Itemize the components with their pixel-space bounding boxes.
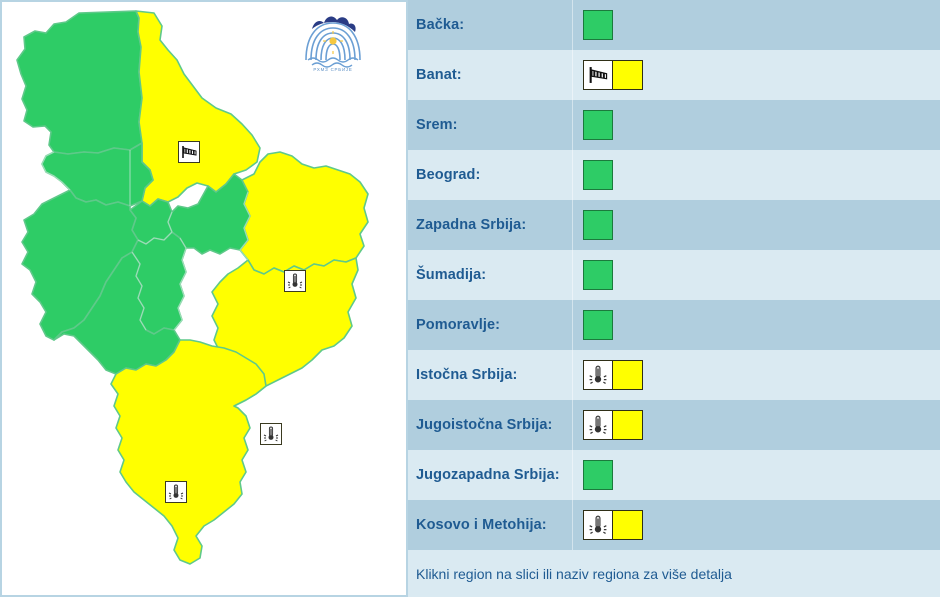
warning-level-green-box: [583, 210, 613, 240]
warning-symbols: [583, 260, 613, 290]
wind-sock-icon-box: [583, 60, 613, 90]
region-name-label[interactable]: Bačka:: [408, 17, 572, 33]
warning-level-green-box: [583, 110, 613, 140]
column-divider: [572, 200, 573, 250]
region-warning-list: Bačka:Banat:Srem:Beograd:Zapadna Srbija:…: [408, 0, 940, 597]
thermometer-heat-icon-box: [583, 510, 613, 540]
region-name-label[interactable]: Šumadija:: [408, 267, 572, 283]
map-badge-banat-wind[interactable]: [178, 141, 200, 163]
map-region-kosovo-metohija[interactable]: [111, 340, 266, 564]
region-row[interactable]: Jugozapadna Srbija:: [408, 450, 940, 500]
warning-symbols: [583, 160, 613, 190]
warning-symbols: [583, 10, 613, 40]
column-divider: [572, 500, 573, 550]
region-row[interactable]: Jugoistočna Srbija:: [408, 400, 940, 450]
warning-level-green-box: [583, 460, 613, 490]
region-row[interactable]: Banat:: [408, 50, 940, 100]
warning-symbols: [583, 510, 643, 540]
region-name-label[interactable]: Istočna Srbija:: [408, 367, 572, 383]
warning-level-green-box: [583, 260, 613, 290]
column-divider: [572, 100, 573, 150]
warning-symbols: [583, 210, 613, 240]
warning-symbols: [583, 460, 613, 490]
logo-caption: РХМЗ СРБИЈЕ: [313, 67, 352, 72]
thermometer-heat-icon-box: [583, 410, 613, 440]
region-row[interactable]: Srem:: [408, 100, 940, 150]
map-region-backa[interactable]: [17, 11, 142, 154]
warning-symbols: [583, 310, 613, 340]
region-row[interactable]: Kosovo i Metohija:: [408, 500, 940, 550]
logo-sun-icon: [329, 37, 336, 44]
map-region-banat[interactable]: [136, 11, 260, 206]
column-divider: [572, 300, 573, 350]
list-footer: Klikni region na slici ili naziv regiona…: [408, 550, 940, 597]
column-divider: [572, 350, 573, 400]
column-divider: [572, 250, 573, 300]
region-name-label[interactable]: Pomoravlje:: [408, 317, 572, 333]
map-region-istocna-srbija[interactable]: [240, 152, 368, 274]
region-row[interactable]: Zapadna Srbija:: [408, 200, 940, 250]
region-name-label[interactable]: Kosovo i Metohija:: [408, 517, 572, 533]
warning-symbols: [583, 110, 613, 140]
region-row[interactable]: Šumadija:: [408, 250, 940, 300]
warning-symbols: [583, 60, 643, 90]
warning-level-green-box: [583, 10, 613, 40]
column-divider: [572, 50, 573, 100]
warning-symbols: [583, 360, 643, 390]
warning-symbols: [583, 410, 643, 440]
column-divider: [572, 400, 573, 450]
region-row[interactable]: Bačka:: [408, 0, 940, 50]
warning-level-yellow-box: [613, 510, 643, 540]
serbia-map-svg[interactable]: [2, 2, 406, 595]
region-name-label[interactable]: Jugozapadna Srbija:: [408, 467, 572, 483]
map-badge-istocna-srbija-heat[interactable]: [284, 270, 306, 292]
column-divider: [572, 150, 573, 200]
region-row[interactable]: Pomoravlje:: [408, 300, 940, 350]
region-name-label[interactable]: Zapadna Srbija:: [408, 217, 572, 233]
region-name-label[interactable]: Banat:: [408, 67, 572, 83]
column-divider: [572, 450, 573, 500]
warning-level-green-box: [583, 310, 613, 340]
rhmz-serbia-logo: РХМЗ СРБИЈЕ: [300, 10, 366, 74]
map-badge-jugoistocna-srbija-heat[interactable]: [260, 423, 282, 445]
region-row[interactable]: Beograd:: [408, 150, 940, 200]
column-divider: [572, 0, 573, 50]
footer-hint-text: Klikni region na slici ili naziv regiona…: [408, 566, 732, 582]
warning-level-yellow-box: [613, 360, 643, 390]
warning-level-green-box: [583, 160, 613, 190]
region-name-label[interactable]: Beograd:: [408, 167, 572, 183]
thermometer-heat-icon-box: [583, 360, 613, 390]
meteo-alarm-page: РХМЗ СРБИЈЕ: [0, 0, 940, 597]
region-row[interactable]: Istočna Srbija:: [408, 350, 940, 400]
warning-level-yellow-box: [613, 410, 643, 440]
map-badge-kosovo-heat[interactable]: [165, 481, 187, 503]
region-name-label[interactable]: Jugoistočna Srbija:: [408, 417, 572, 433]
region-name-label[interactable]: Srem:: [408, 117, 572, 133]
serbia-warning-map[interactable]: РХМЗ СРБИЈЕ: [0, 0, 408, 597]
warning-level-yellow-box: [613, 60, 643, 90]
